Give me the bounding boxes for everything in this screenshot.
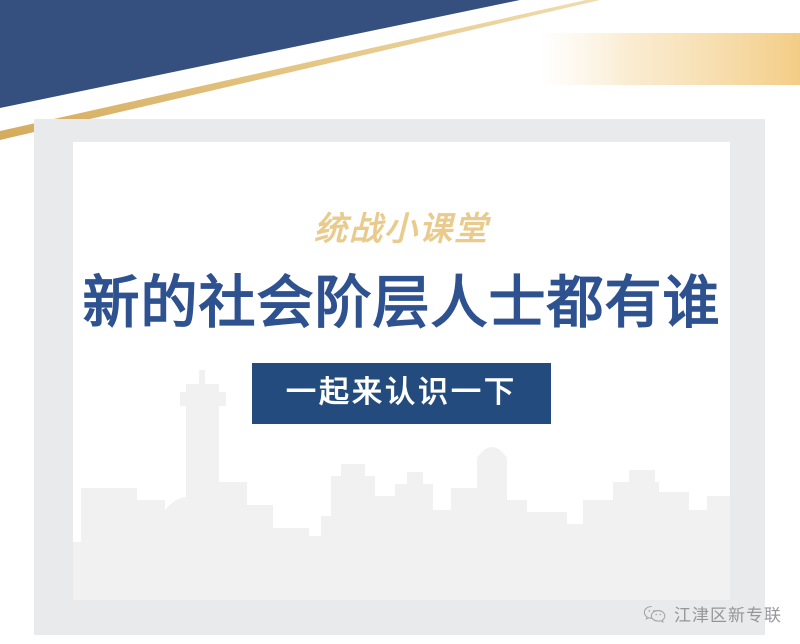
wechat-icon <box>643 604 667 624</box>
poster-text-block: 统战小课堂 新的社会阶层人士都有谁 一起来认识一下 <box>73 142 730 424</box>
gold-gradient-band <box>540 33 800 85</box>
page-title: 新的社会阶层人士都有谁 <box>73 273 730 335</box>
wechat-watermark: 江津区新专联 <box>643 601 782 626</box>
navy-corner-triangle <box>0 0 520 108</box>
content-card: 统战小课堂 新的社会阶层人士都有谁 一起来认识一下 <box>73 142 730 600</box>
poster-canvas: 统战小课堂 新的社会阶层人士都有谁 一起来认识一下 <box>0 0 800 644</box>
wechat-account-name: 江津区新专联 <box>674 601 782 626</box>
learn-more-button[interactable]: 一起来认识一下 <box>252 363 551 424</box>
cta-container: 一起来认识一下 <box>73 363 730 424</box>
poster-subtitle: 统战小课堂 <box>73 212 730 245</box>
